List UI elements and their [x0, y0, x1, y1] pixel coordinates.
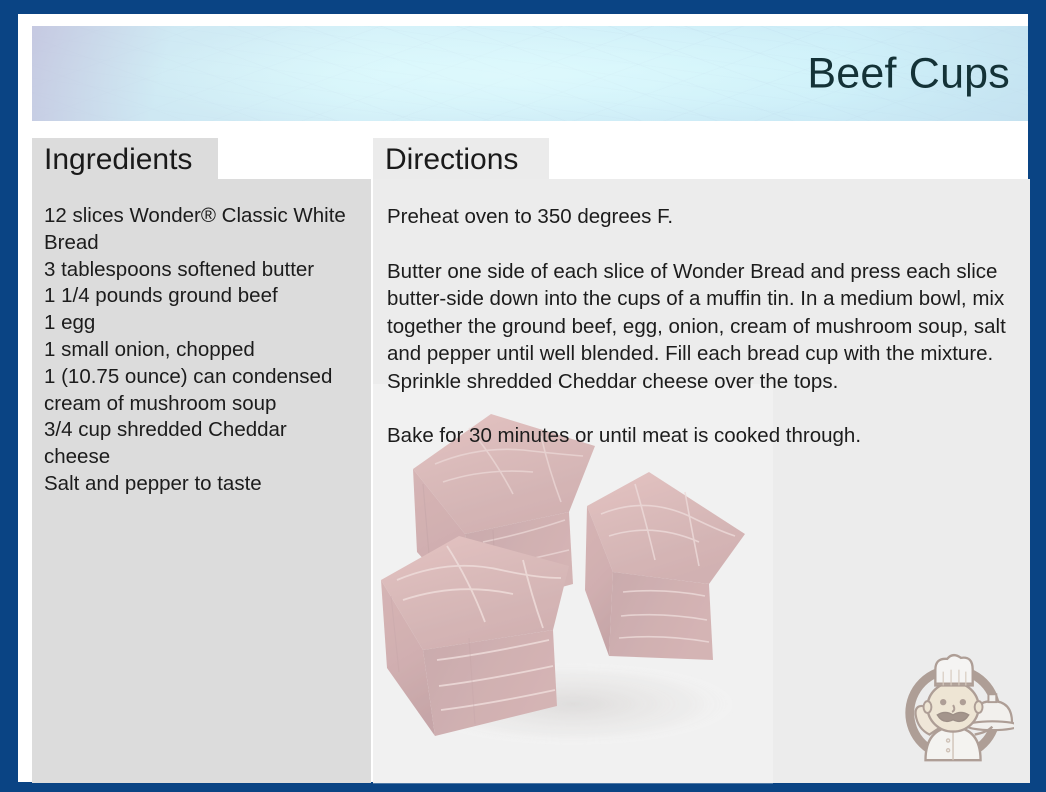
- list-item: 3 tablespoons softened butter: [44, 257, 357, 284]
- list-item: 1 egg: [44, 310, 357, 337]
- list-item: Salt and pepper to taste: [44, 471, 357, 498]
- recipe-slide: Beef Cups Ingredients Directions 12 slic…: [0, 0, 1046, 792]
- title-banner: Beef Cups: [32, 26, 1028, 121]
- tab-ingredients[interactable]: Ingredients: [32, 138, 218, 182]
- slide-canvas: Beef Cups Ingredients Directions 12 slic…: [18, 14, 1028, 782]
- list-item: 1 1/4 pounds ground beef: [44, 283, 357, 310]
- tab-directions[interactable]: Directions: [373, 138, 549, 182]
- tab-ingredients-label: Ingredients: [44, 143, 192, 177]
- direction-paragraph: Butter one side of each slice of Wonder …: [387, 258, 1014, 396]
- ingredients-panel: 12 slices Wonder® Classic White Bread 3 …: [32, 179, 371, 783]
- chef-mascot-logo-icon: [896, 650, 1014, 768]
- direction-paragraph: Preheat oven to 350 degrees F.: [387, 203, 1014, 231]
- tab-directions-label: Directions: [385, 143, 518, 177]
- list-item: 1 (10.75 ounce) can condensed cream of m…: [44, 364, 357, 418]
- list-item: 1 small onion, chopped: [44, 337, 357, 364]
- list-item: 12 slices Wonder® Classic White Bread: [44, 203, 357, 257]
- page-title: Beef Cups: [807, 52, 1010, 95]
- direction-paragraph: Bake for 30 minutes or until meat is coo…: [387, 422, 1014, 450]
- list-item: 3/4 cup shredded Cheddar cheese: [44, 417, 357, 471]
